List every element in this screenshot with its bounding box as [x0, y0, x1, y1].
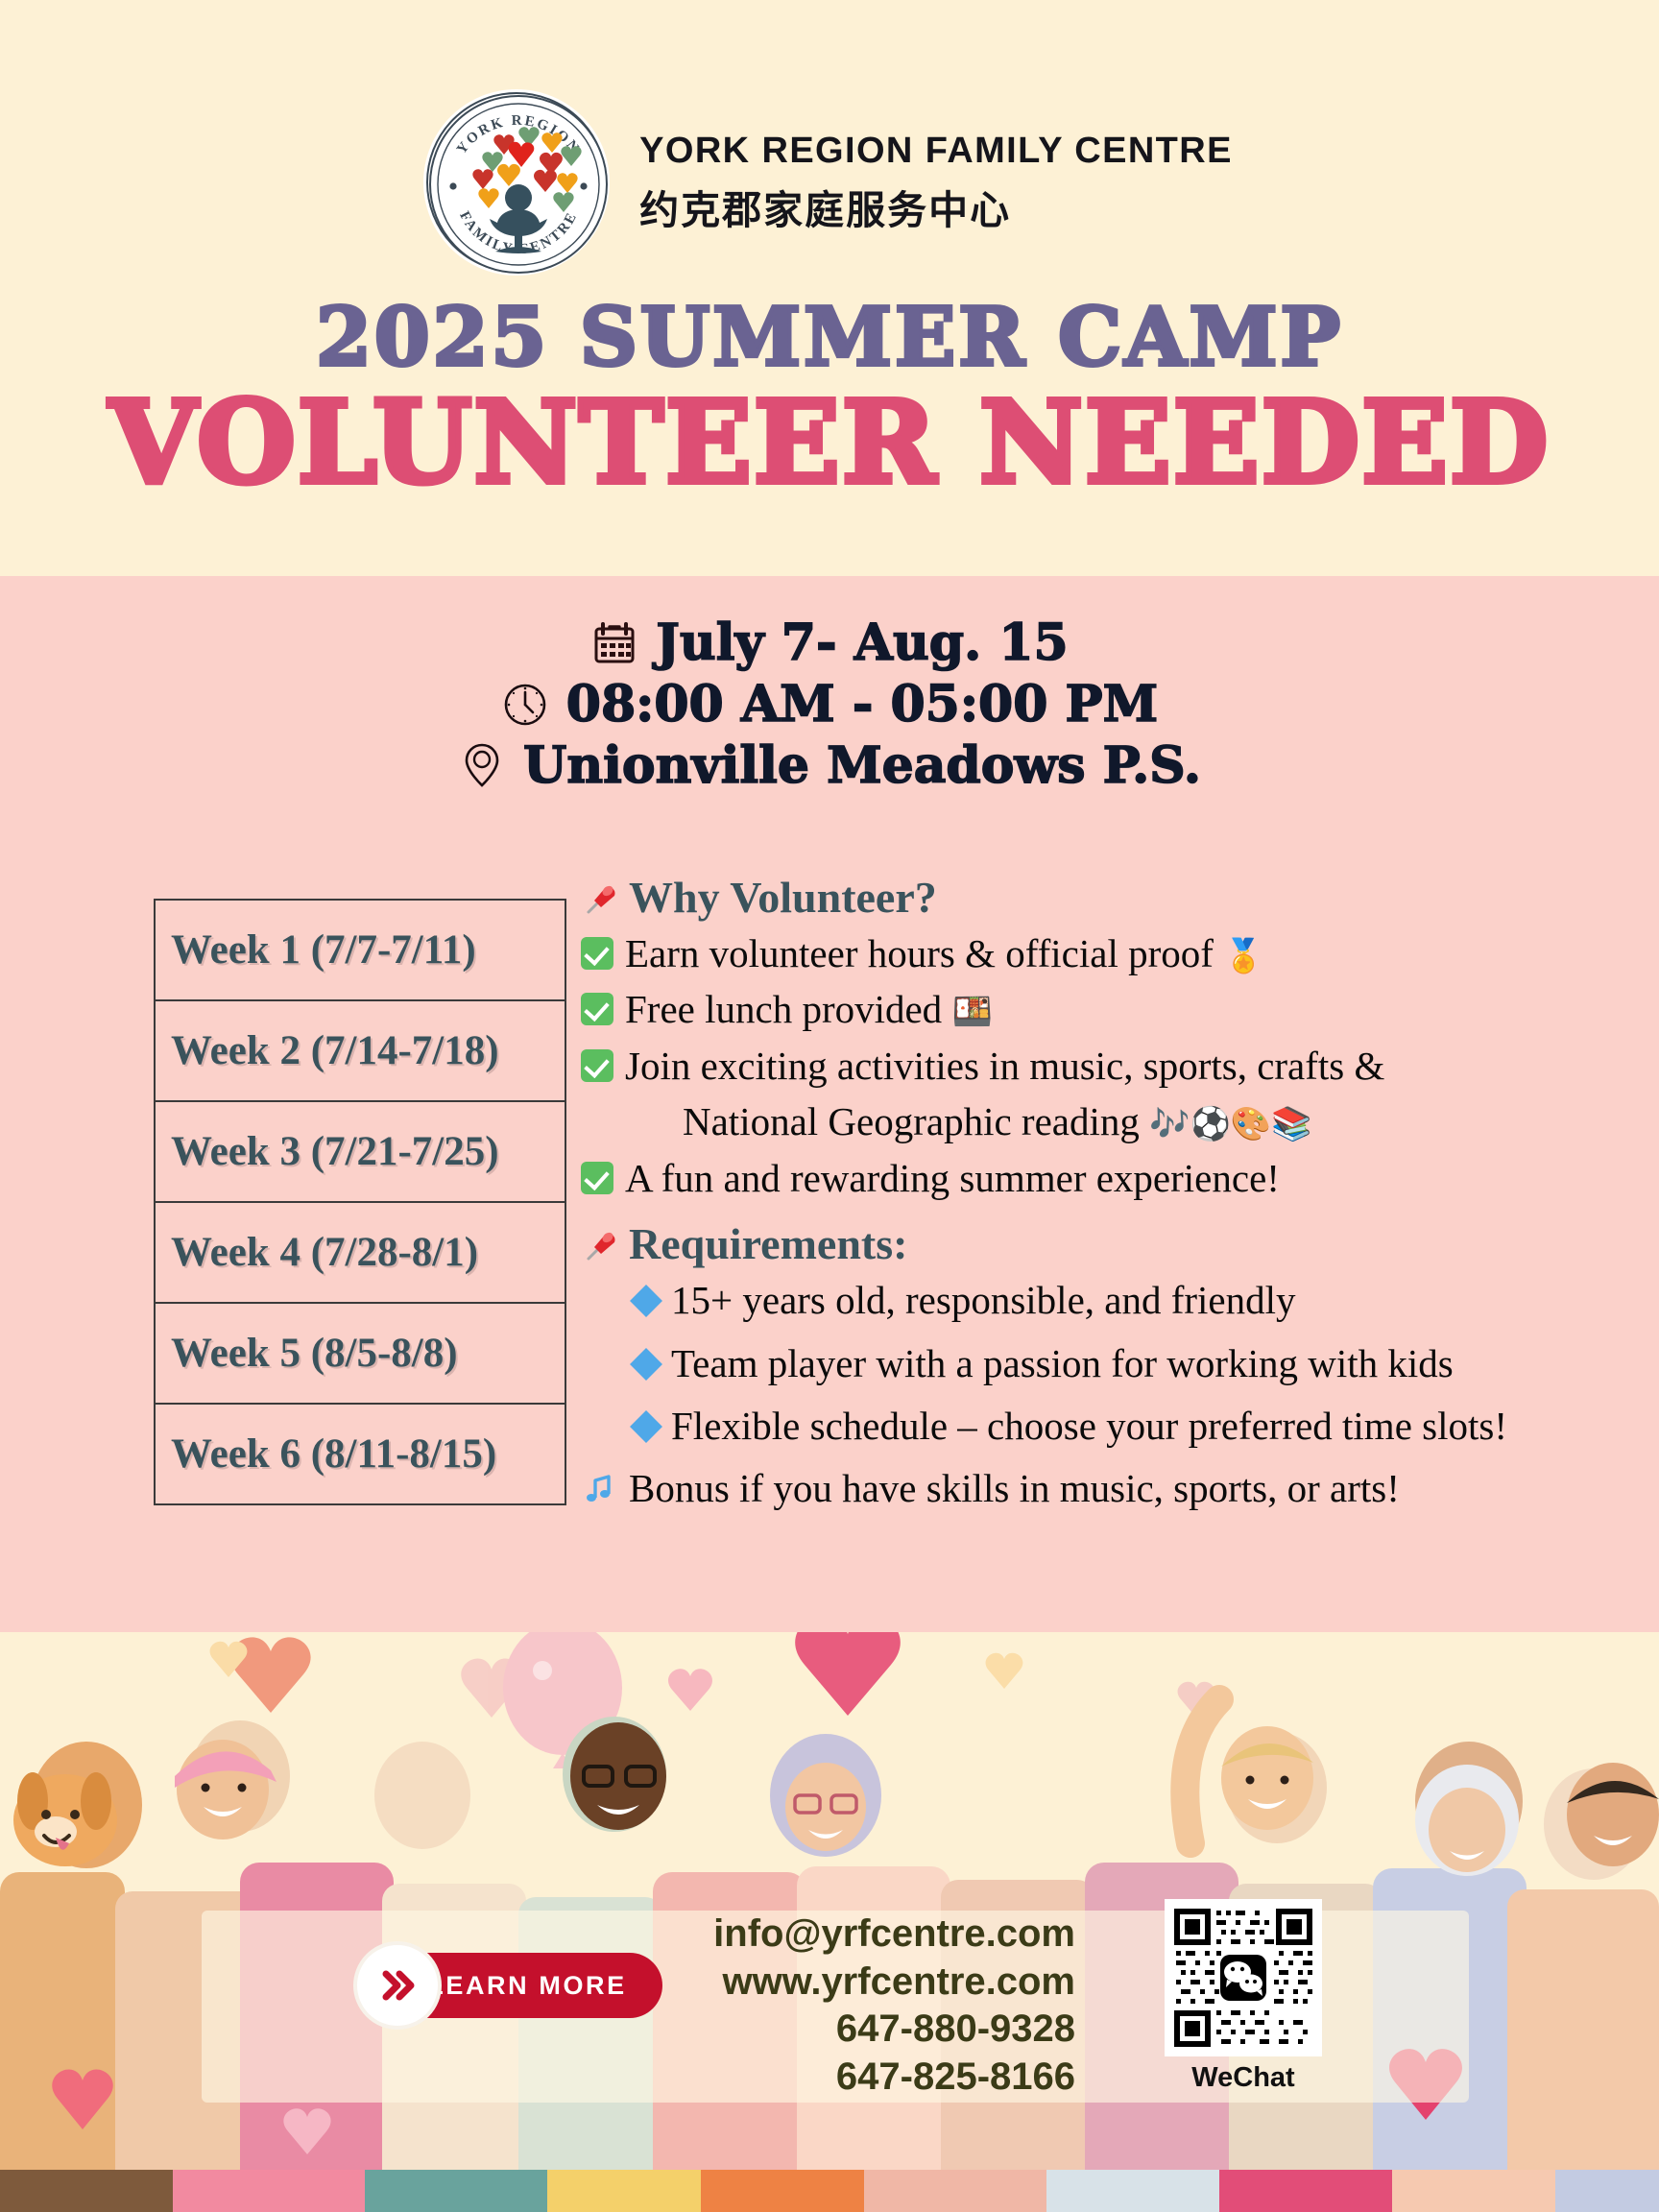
event-time-row: 08:00 AM - 05:00 PM — [501, 676, 1158, 733]
event-date-row: July 7- Aug. 15 — [590, 614, 1068, 672]
poster-title-line1: 2025 SUMMER CAMP — [0, 298, 1659, 377]
event-details: July 7- Aug. 15 08:00 AM - 05:00 PM — [0, 614, 1659, 794]
bento-box-icon: 🍱 — [951, 993, 992, 1031]
calendar-icon — [590, 619, 638, 667]
pushpin-icon — [581, 1224, 619, 1262]
check-box-icon — [581, 1049, 613, 1082]
week-label: Week 2 (7/14-7/18) — [171, 1027, 499, 1074]
org-name-block: YORK REGION FAMILY CENTRE 约克郡家庭服务中心 — [639, 131, 1233, 235]
music-note-icon — [581, 1469, 617, 1505]
table-row[interactable]: Week 4 (7/28-8/1) — [156, 1203, 565, 1304]
list-item: Flexible schedule – choose your preferre… — [581, 1401, 1522, 1452]
contact-website[interactable]: www.yrfcentre.com — [672, 1959, 1075, 2007]
org-logo: YORK REGION FAMILY CENTRE — [426, 92, 607, 273]
why-volunteer-heading-text: Why Volunteer? — [629, 872, 937, 923]
double-chevron-right-icon[interactable] — [353, 1941, 442, 2030]
requirements-heading-text: Requirements: — [629, 1218, 907, 1269]
wechat-label: WeChat — [1165, 2062, 1322, 2094]
bonus-note: Bonus if you have skills in music, sport… — [581, 1463, 1522, 1513]
why-item-text: A fun and rewarding summer experience! — [625, 1153, 1522, 1203]
requirement-text: Team player with a passion for working w… — [671, 1338, 1454, 1389]
list-item: A fun and rewarding summer experience! — [581, 1153, 1522, 1203]
bonus-text: Bonus if you have skills in music, sport… — [629, 1463, 1522, 1513]
org-name-cn: 约克郡家庭服务中心 — [639, 178, 1233, 235]
event-location-row: Unionville Meadows P.S. — [458, 737, 1201, 795]
blue-diamond-icon — [630, 1285, 662, 1317]
list-item: Free lunch provided 🍱 — [581, 984, 1522, 1034]
check-box-icon — [581, 937, 613, 970]
map-pin-icon — [458, 739, 506, 791]
week-label: Week 1 (7/7-7/11) — [171, 926, 476, 974]
blue-diamond-icon — [630, 1410, 662, 1443]
event-location-text: Unionville Meadows P.S. — [523, 737, 1201, 795]
list-item: Join exciting activities in music, sport… — [581, 1041, 1522, 1091]
poster-title-line2: VOLUNTEER NEEDED — [0, 386, 1659, 499]
why-item-continuation: National Geographic reading 🎶⚽🎨📚 — [581, 1096, 1522, 1146]
table-row[interactable]: Week 3 (7/21-7/25) — [156, 1102, 565, 1203]
table-row[interactable]: Week 1 (7/7-7/11) — [156, 901, 565, 1001]
list-item: Team player with a passion for working w… — [581, 1338, 1522, 1389]
week-label: Week 5 (8/5-8/8) — [171, 1330, 458, 1377]
table-row[interactable]: Week 5 (8/5-8/8) — [156, 1304, 565, 1405]
wechat-qr-block: WeChat — [1165, 1899, 1322, 2094]
logo-artwork: YORK REGION FAMILY CENTRE — [428, 94, 609, 275]
medal-icon: 🏅 — [1223, 937, 1263, 975]
why-item-text: Free lunch provided — [625, 987, 942, 1031]
why-item-continuation-text: National Geographic reading — [683, 1099, 1140, 1143]
contact-email[interactable]: info@yrfcentre.com — [672, 1911, 1075, 1959]
why-item-text: Join exciting activities in music, sport… — [625, 1041, 1522, 1091]
week-label: Week 6 (8/11-8/15) — [171, 1431, 496, 1478]
table-row[interactable]: Week 2 (7/14-7/18) — [156, 1001, 565, 1102]
week-label: Week 3 (7/21-7/25) — [171, 1128, 499, 1175]
list-item: 15+ years old, responsible, and friendly — [581, 1275, 1522, 1326]
contact-info: info@yrfcentre.com www.yrfcentre.com 647… — [672, 1911, 1075, 2101]
activities-emoji-icons: 🎶⚽🎨📚 — [1149, 1105, 1311, 1143]
pushpin-icon — [581, 878, 619, 916]
poster-root: YORK REGION FAMILY CENTRE — [0, 0, 1659, 2212]
check-box-icon — [581, 993, 613, 1025]
organization-header: YORK REGION FAMILY CENTRE — [0, 92, 1659, 273]
info-column: Why Volunteer? Earn volunteer hours & of… — [581, 872, 1522, 1520]
contact-phone-1[interactable]: 647-880-9328 — [672, 2006, 1075, 2054]
wechat-qr-icon[interactable] — [1165, 1899, 1322, 2056]
week-label: Week 4 (7/28-8/1) — [171, 1229, 478, 1276]
event-date-text: July 7- Aug. 15 — [656, 614, 1068, 672]
why-volunteer-heading: Why Volunteer? — [581, 872, 1522, 923]
why-item-text: Earn volunteer hours & official proof — [625, 931, 1214, 975]
requirement-text: 15+ years old, responsible, and friendly — [671, 1275, 1296, 1326]
requirement-text: Flexible schedule – choose your preferre… — [671, 1401, 1507, 1452]
clock-icon — [501, 681, 549, 729]
event-time-text: 08:00 AM - 05:00 PM — [566, 676, 1158, 733]
org-name-en: YORK REGION FAMILY CENTRE — [639, 131, 1233, 172]
contact-phone-2[interactable]: 647-825-8166 — [672, 2054, 1075, 2102]
requirements-heading: Requirements: — [581, 1218, 1522, 1269]
check-box-icon — [581, 1162, 613, 1194]
week-schedule-table: Week 1 (7/7-7/11) Week 2 (7/14-7/18) Wee… — [154, 899, 566, 1505]
list-item: Earn volunteer hours & official proof 🏅 — [581, 928, 1522, 978]
blue-diamond-icon — [630, 1348, 662, 1381]
table-row[interactable]: Week 6 (8/11-8/15) — [156, 1405, 565, 1505]
